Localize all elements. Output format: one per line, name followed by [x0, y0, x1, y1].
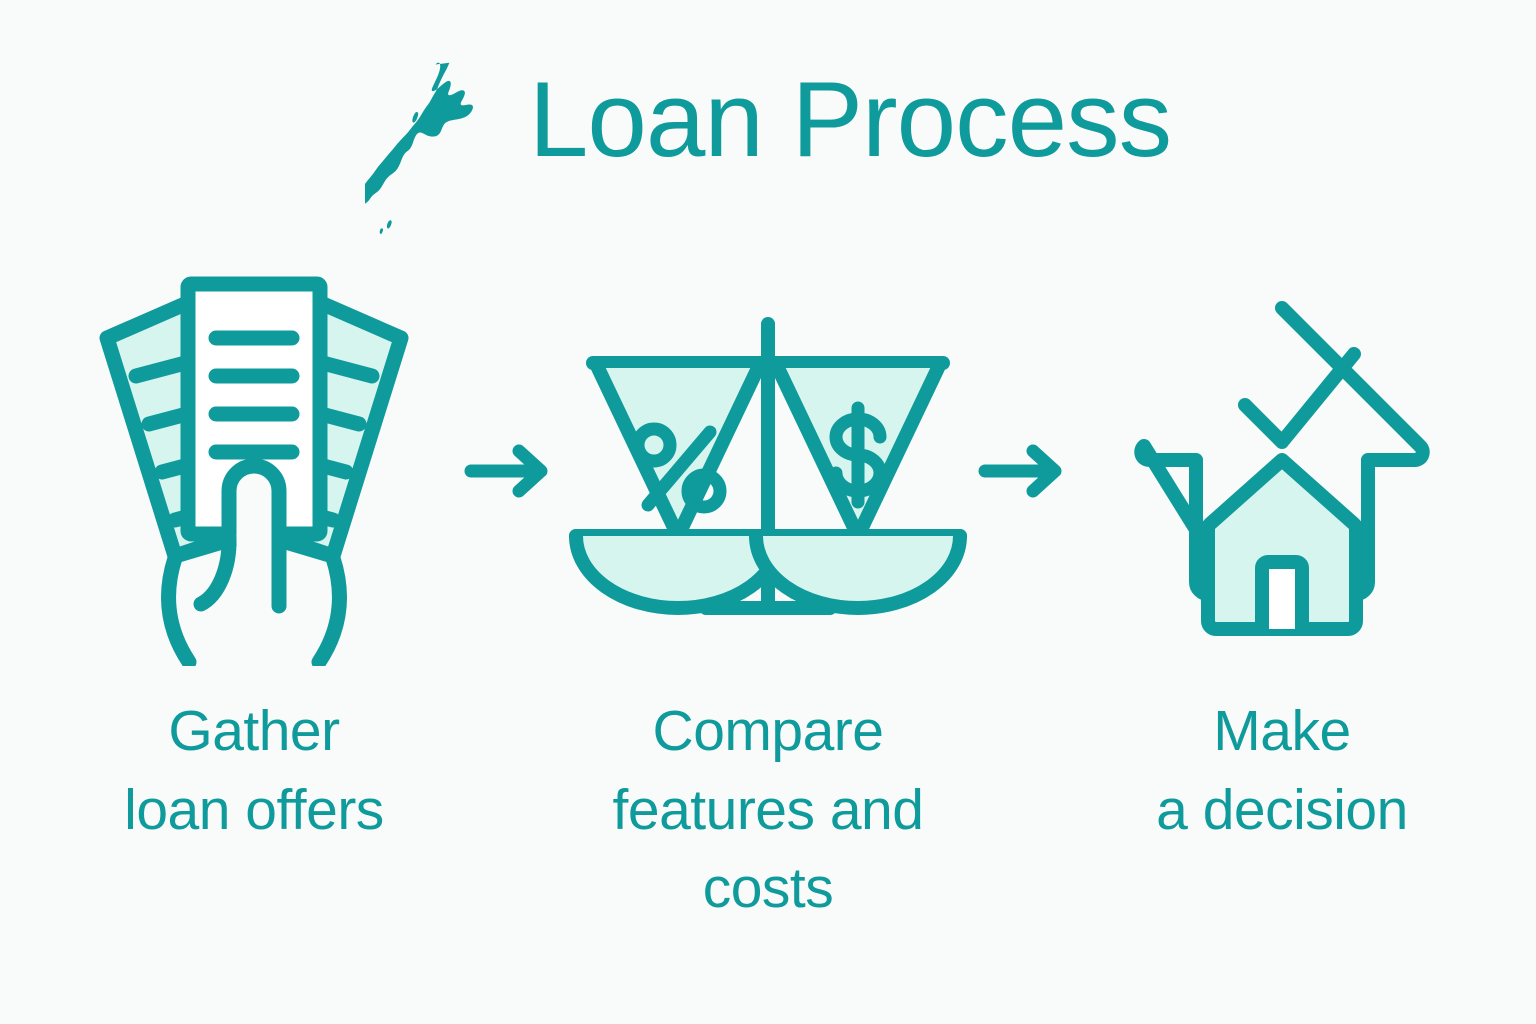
house-with-checkmark-icon [1132, 296, 1432, 646]
step-1-icon-wrap [52, 262, 456, 680]
arrow-2-cell [970, 262, 1080, 680]
new-zealand-map-icon [365, 62, 473, 237]
step-3-label: Make a decision [1156, 692, 1408, 849]
step-2-label: Compare features and costs [613, 692, 924, 928]
steps-row: Gather loan offers [0, 262, 1536, 928]
step-2-icon-wrap [566, 262, 970, 680]
step-3-icon-wrap [1080, 262, 1484, 680]
header: Loan Process [0, 46, 1536, 246]
header-inner: Loan Process [365, 46, 1171, 237]
dollar-symbol [836, 408, 880, 502]
step-1-label: Gather loan offers [124, 692, 384, 849]
page-title: Loan Process [529, 46, 1171, 173]
loan-process-infographic: Loan Process [0, 0, 1536, 1024]
step-1: Gather loan offers [52, 262, 456, 849]
step-3: Make a decision [1080, 262, 1484, 849]
balance-scales-icon [558, 306, 978, 636]
step-2: Compare features and costs [566, 262, 970, 928]
arrow-1-cell [456, 262, 566, 680]
arrow-right-icon [975, 441, 1075, 501]
hand-holding-documents-icon [89, 276, 419, 666]
arrow-right-icon [461, 441, 561, 501]
